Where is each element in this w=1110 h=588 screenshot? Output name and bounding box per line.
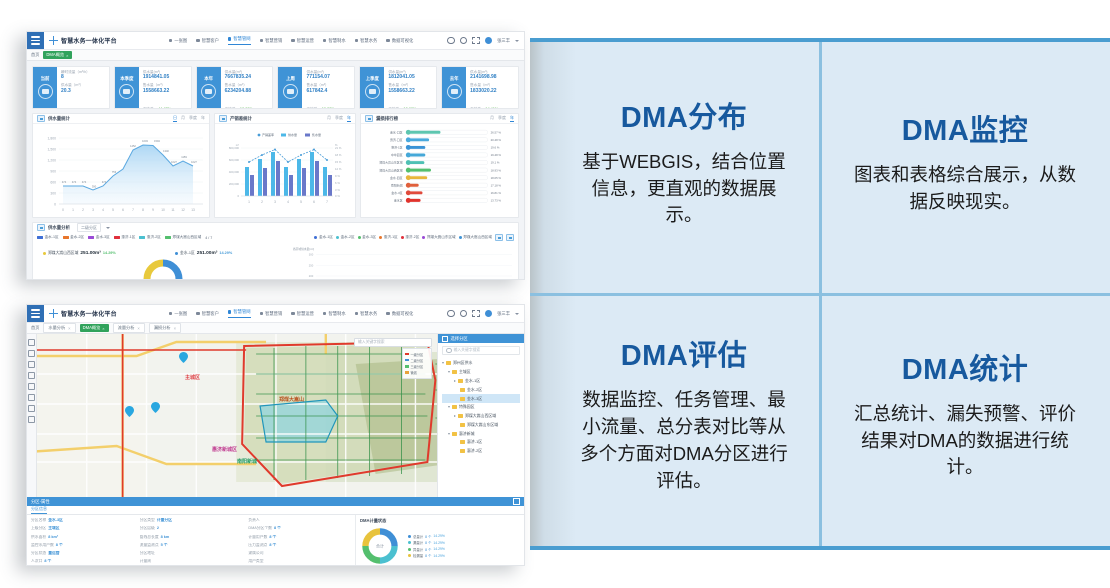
kpi-card: 本季度 供水量(m³)1914841.05 售水量（m³）1558663.22 … xyxy=(114,66,192,109)
donut-chart xyxy=(141,257,185,280)
field-key: 计量周 xyxy=(140,559,151,566)
tree-node[interactable]: 主城区 xyxy=(442,368,520,377)
switch-quarter[interactable]: 季度 xyxy=(498,115,506,122)
legend-item[interactable]: 郑煤大嵩山东区域 xyxy=(422,234,455,241)
svg-text:200,000: 200,000 xyxy=(229,182,240,186)
tree-node[interactable]: 惠济-2区 xyxy=(442,447,520,456)
switch-month[interactable]: 月 xyxy=(490,115,494,122)
analysis-legend: 金水-1区 金水-2区 金水-3区 惠济-1区 惠济-2区 郑煤大嵩山西区域 4… xyxy=(33,232,518,243)
tab-zone-info[interactable]: 分区信息 xyxy=(31,506,47,515)
nav-icon xyxy=(323,39,327,43)
svg-text:2: 2 xyxy=(261,200,263,204)
field: 分区状态量运营 xyxy=(31,551,134,558)
tree-node[interactable]: 郑煤大嵩山西区域 xyxy=(442,412,520,421)
kpi-row: 当前 瞬时流量（m³/h）8 供水量（m³）20.3 本季度 供水量(m³)19… xyxy=(27,61,524,109)
folder-icon xyxy=(446,361,451,365)
chevron-down-icon[interactable] xyxy=(442,362,444,364)
kpi-metrics: 供水量(m³)771154.07 售水量（m³）617842.4 产销差 19.… xyxy=(302,67,354,108)
tab-home[interactable]: 首页 xyxy=(31,325,39,331)
svg-text:19.6 %: 19.6 % xyxy=(491,146,500,150)
screenshot-dma-map: 智慧水务一体化平台 一张图 智慧客户 智慧管网 智慧营销 智慧运营 智慧制水 智… xyxy=(26,304,525,566)
legend-label: 金水-2区 xyxy=(341,235,355,240)
svg-text:金水-四区: 金水-四区 xyxy=(390,175,403,180)
panel-header: 漏损排行榜 月 季度 年 xyxy=(361,114,518,124)
legend-label: 管线 xyxy=(411,370,417,375)
nav-label: 智慧客户 xyxy=(202,311,219,317)
svg-text:8: 8 xyxy=(142,208,144,212)
kpi-value: 1558663.22 xyxy=(388,88,433,95)
legend-item[interactable]: 金水-3区 xyxy=(88,235,110,240)
search-icon[interactable] xyxy=(28,350,35,357)
tree-node-label: 郑州区供水 xyxy=(453,360,472,366)
svg-text:金水-口区: 金水-口区 xyxy=(390,129,403,134)
kpi-value: 2141698.98 xyxy=(470,74,515,81)
switch-day[interactable]: 日 xyxy=(173,115,177,122)
nav-label: 智慧客户 xyxy=(202,38,219,44)
meter-icon xyxy=(447,84,462,99)
app-title: 智慧水务一体化平台 xyxy=(61,309,117,318)
fullscreen-icon[interactable] xyxy=(472,310,480,318)
field: 分区名称金水-3区 xyxy=(31,518,134,525)
legend-pager[interactable]: 4 / 7 xyxy=(205,236,212,240)
switch-quarter[interactable]: 季度 xyxy=(335,115,343,122)
nav-label: 智慧水务 xyxy=(360,311,377,317)
bell-icon[interactable] xyxy=(460,310,468,318)
svg-text:1: 1 xyxy=(72,208,74,212)
nav-icon xyxy=(196,39,200,43)
switch-year[interactable]: 年 xyxy=(201,115,205,122)
svg-text:1603: 1603 xyxy=(142,139,148,143)
trend-chart-area: 各区域供水量(m³) 300250 200100 xyxy=(291,245,514,280)
nav-icon xyxy=(169,39,173,43)
tree-node-label: 金水-2区 xyxy=(467,387,482,393)
svg-text:供水量: 供水量 xyxy=(288,132,297,137)
svg-text:0 %: 0 % xyxy=(335,194,340,198)
map-zone-label: 惠济新城区 xyxy=(212,446,237,453)
polygon-icon[interactable] xyxy=(28,383,35,390)
feature-desc: 数据监控、任务管理、最小流量、总分表对比等从多个方面对DMA分区进行评估。 xyxy=(574,387,794,494)
chevron-down-icon[interactable] xyxy=(106,227,110,229)
feature-cell-dma-monitoring: DMA监控 图表和表格综合展示，从数据反映现实。 xyxy=(820,42,1110,294)
svg-text:474: 474 xyxy=(82,180,87,184)
field-key: 流量监测点 xyxy=(140,543,159,550)
field: 分区层级2 xyxy=(140,526,243,533)
kpi-metrics: 供水量(m³)7667835.24 售水量（m³）6234204.88 产销差 … xyxy=(221,67,273,108)
main-nav: 一张图 智慧客户 智慧管网 智慧营销 智慧运营 智慧制水 智慧水务 数据可视化 xyxy=(169,309,414,318)
svg-text:1027: 1027 xyxy=(171,160,177,164)
svg-text:各区域供水量(m³): 各区域供水量(m³) xyxy=(293,247,314,251)
kpi-card: 当前 瞬时流量（m³/h）8 供水量（m³）20.3 xyxy=(32,66,110,109)
chart-title: DMA计量状态 xyxy=(360,518,520,524)
chevron-down-icon[interactable] xyxy=(515,40,519,42)
panel-title: 供水量统计 xyxy=(48,116,70,122)
tab-active[interactable]: DMA概览× xyxy=(80,324,109,333)
map-zone-label: 主城区 xyxy=(185,374,200,381)
folder-icon xyxy=(460,397,465,401)
svg-text:5: 5 xyxy=(300,200,302,204)
chevron-right-icon[interactable] xyxy=(454,380,456,382)
tab-item[interactable]: 漏损分析× xyxy=(149,323,181,334)
map-canvas[interactable]: 主城区 惠济新城区 南阳新城 郑煤大嵩山 输入关键字搜索 一级分区 二级分区 三… xyxy=(27,334,524,497)
svg-text:5: 5 xyxy=(112,208,114,212)
close-icon[interactable]: × xyxy=(66,53,68,58)
gear-icon[interactable] xyxy=(447,37,455,45)
checkbox-icon[interactable] xyxy=(442,336,448,342)
svg-text:金水区: 金水区 xyxy=(394,198,403,203)
field-key: 压力监测点 xyxy=(248,543,267,550)
bar-chart-icon[interactable] xyxy=(495,234,503,241)
screenshot-dashboard: 智慧水务一体化平台 一张图 智慧客户 智慧管网 智慧营销 智慧运营 智慧制水 智… xyxy=(26,31,525,280)
nav-item-3[interactable]: 智慧营销 xyxy=(260,38,283,44)
legend-item[interactable]: 金水-1区 xyxy=(37,235,59,240)
nav-item-7[interactable]: 数据可视化 xyxy=(386,38,413,44)
kpi-period-label: 上季度 xyxy=(366,76,379,82)
legend-item[interactable]: 金水-1区 xyxy=(314,234,333,241)
field-key: 计量用户数 xyxy=(248,535,267,542)
nav-label: 一张图 xyxy=(174,38,187,44)
svg-text:250: 250 xyxy=(309,263,314,267)
marker-icon[interactable] xyxy=(28,372,35,379)
chart-icon xyxy=(219,115,227,122)
nav-item-0[interactable]: 一张图 xyxy=(169,311,187,317)
nav-item-6[interactable]: 智慧水务 xyxy=(355,38,378,44)
panel-header: 供水量统计 日 月 季度 年 xyxy=(33,114,209,124)
logo-icon xyxy=(49,309,58,318)
tree-node[interactable]: 郑煤大嵩山东区域 xyxy=(442,420,520,429)
legend-label: 三级分区 xyxy=(411,364,424,369)
tree-node[interactable]: 金水-2区 xyxy=(442,385,520,394)
field: 管线总长度8 km xyxy=(140,535,243,542)
locate-icon[interactable] xyxy=(28,405,35,412)
svg-text:6: 6 xyxy=(122,208,124,212)
kpi-key: 产销差 xyxy=(470,107,481,109)
app-header: 智慧水务一体化平台 一张图 智慧客户 智慧管网 智慧营销 智慧运营 智慧制水 智… xyxy=(27,305,524,323)
field-key: 分区名称 xyxy=(31,518,46,525)
tab-label: 水量分析 xyxy=(48,325,65,331)
legend-count: 8 个 xyxy=(425,547,431,552)
avatar[interactable] xyxy=(485,37,493,45)
close-icon: × xyxy=(137,326,139,331)
field: 压力监测点8 个 xyxy=(248,543,351,550)
map-marker-icon[interactable] xyxy=(125,406,134,417)
field-value: 2 xyxy=(157,526,159,533)
field-key: 隶属公司 xyxy=(248,551,263,558)
pie-label-value: 251.00m³ xyxy=(80,251,101,256)
slide-root: 智慧水务一体化平台 一张图 智慧客户 智慧管网 智慧营销 智慧运营 智慧制水 智… xyxy=(0,0,1110,588)
field-key: 供水面积 xyxy=(31,535,46,542)
tree-node-label: 金水-1区 xyxy=(465,378,480,384)
nav-label: 智慧水务 xyxy=(360,38,377,44)
switch-month[interactable]: 月 xyxy=(327,115,331,122)
tab-active[interactable]: DMA概览 × xyxy=(43,51,72,60)
field: 计量周 xyxy=(140,559,243,566)
chevron-down-icon[interactable] xyxy=(448,371,450,373)
close-icon: × xyxy=(174,326,176,331)
feature-panel: DMA分布 基于WEBGIS，结合位置信息，更直观的数据展示。 DMA监控 图表… xyxy=(530,38,1110,550)
svg-text:4: 4 xyxy=(287,200,289,204)
kpi-value: 13.98% xyxy=(404,107,417,109)
field-value: 8 个 xyxy=(269,535,276,542)
nav-label: 数据可视化 xyxy=(392,38,413,44)
bell-icon[interactable] xyxy=(460,37,468,45)
svg-text:1,800: 1,800 xyxy=(48,137,57,141)
svg-text:18.93 %: 18.93 % xyxy=(491,168,502,172)
svg-text:1159: 1159 xyxy=(181,155,187,159)
svg-text:200: 200 xyxy=(309,274,314,278)
main-nav: 一张图 智慧客户 智慧管网 智慧营销 智慧运营 智慧制水 智慧水务 数据可视化 xyxy=(169,36,414,45)
avatar[interactable] xyxy=(485,310,493,318)
switch-year[interactable]: 年 xyxy=(510,115,514,122)
field-value: 8 个 xyxy=(269,543,276,550)
field-key: 分区状态 xyxy=(31,551,46,558)
field-value: 主城区 xyxy=(48,526,59,533)
fullscreen-icon[interactable] xyxy=(472,37,480,45)
tree-node[interactable]: 特殊园区 xyxy=(442,403,520,412)
nav-item-1[interactable]: 智慧客户 xyxy=(196,38,219,44)
nav-item-0[interactable]: 一张图 xyxy=(169,38,187,44)
svg-text:1594: 1594 xyxy=(154,139,160,143)
nav-item-5[interactable]: 智慧制水 xyxy=(323,311,346,317)
svg-text:9 %: 9 % xyxy=(335,174,340,178)
nav-item-2[interactable]: 智慧管网 xyxy=(228,309,251,318)
nav-item-1[interactable]: 智慧客户 xyxy=(196,311,219,317)
legend-label: 漏量计 xyxy=(413,540,423,545)
app-title: 智慧水务一体化平台 xyxy=(61,36,117,45)
meter-icon xyxy=(283,84,298,99)
kpi-value: 1812041.05 xyxy=(388,74,433,81)
svg-text:1,200: 1,200 xyxy=(48,159,57,163)
svg-text:474: 474 xyxy=(62,180,67,184)
table-icon[interactable] xyxy=(506,234,514,241)
field-value: 8 km² xyxy=(48,535,58,542)
field-key: 分区类型 xyxy=(140,518,155,525)
tab-home[interactable]: 首页 xyxy=(31,52,39,58)
kpi-value: 1833020.22 xyxy=(470,88,515,95)
kpi-period-label: 当前 xyxy=(41,76,50,82)
legend-pct: 14.29% xyxy=(433,541,445,545)
folder-icon xyxy=(458,379,463,383)
tree-node[interactable]: 惠济新城 xyxy=(442,429,520,438)
svg-text:9: 9 xyxy=(152,208,154,212)
nav-label: 智慧制水 xyxy=(328,38,345,44)
chevron-down-icon[interactable] xyxy=(448,406,450,408)
map-marker-icon[interactable] xyxy=(151,402,160,413)
analysis-body: 郑煤大嵩山西区域 251.00m³ 14.29% 金水-1区 251.00m³ … xyxy=(33,243,518,280)
gear-icon[interactable] xyxy=(447,310,455,318)
field-value: 8 个 xyxy=(56,543,63,550)
tree-node-label: 郑煤大嵩山东区域 xyxy=(467,422,498,428)
feature-title: DMA监控 xyxy=(902,116,1029,148)
chevron-down-icon[interactable] xyxy=(448,433,450,435)
tab-item[interactable]: 流量分析× xyxy=(113,323,145,334)
close-icon: × xyxy=(68,326,70,331)
kpi-key: 产销差 xyxy=(388,107,399,109)
dma-status-chart-panel: DMA计量状态 合计 总量计8 个14.29% 漏量计8 个14.29% 异量计… xyxy=(356,515,524,566)
print-icon[interactable] xyxy=(28,394,35,401)
meter-icon xyxy=(201,84,216,99)
field: 负责人 xyxy=(248,518,351,525)
chart-icon xyxy=(37,115,45,122)
switch-year[interactable]: 年 xyxy=(347,115,351,122)
svg-text:400,000: 400,000 xyxy=(229,170,240,174)
zone-tree-search[interactable]: 输入关键字搜索 xyxy=(442,346,520,355)
field-key: 分区层级 xyxy=(140,526,155,533)
legend-item[interactable]: 金水-2区 xyxy=(63,235,85,240)
kpi-period-label: 本年 xyxy=(204,76,213,82)
nav-icon xyxy=(260,39,264,43)
nav-item-3[interactable]: 智慧营销 xyxy=(260,311,283,317)
tree-node-label: 主城区 xyxy=(459,369,471,375)
panel-title: 漏损排行榜 xyxy=(376,116,398,122)
svg-text:19.48 %: 19.48 % xyxy=(491,153,502,157)
legend-label: 惠济-2区 xyxy=(405,235,419,240)
kpi-period: 本季度 xyxy=(115,67,139,108)
panel-title: 产销差统计 xyxy=(230,116,252,122)
svg-text:800,000: 800,000 xyxy=(229,146,240,150)
zone-tree: 郑州区供水 主城区 金水-1区 金水-2区 金水-3区 特殊园区 郑煤大嵩山西区… xyxy=(438,358,524,457)
legend-count: 8 个 xyxy=(425,540,431,545)
kpi-card: 本年 供水量(m³)7667835.24 售水量（m³）6234204.88 产… xyxy=(196,66,274,109)
pie-label-pct: 14.29% xyxy=(219,251,232,255)
svg-text:13: 13 xyxy=(191,208,195,212)
legend-item[interactable]: 郑煤大嵩山西区域 xyxy=(165,235,201,240)
svg-text:10: 10 xyxy=(161,208,165,212)
horizontal-bar-chart: 金水-口区惠济-口区 惠济-1区中牟园区 郑煤大嵩山东区域郑煤大嵩山西区域 金水… xyxy=(361,124,518,212)
feature-cell-dma-statistics: DMA统计 汇总统计、漏失预警、评价结果对DMA的数据进行统计。 xyxy=(820,294,1110,546)
menu-icon[interactable] xyxy=(27,32,44,49)
expand-icon[interactable] xyxy=(513,498,520,505)
map-search-input[interactable]: 输入关键字搜索 xyxy=(354,338,432,347)
folder-icon xyxy=(452,405,457,409)
pie-label-value: 251.00m³ xyxy=(197,251,218,256)
nav-label: 智慧运营 xyxy=(297,38,314,44)
nav-label: 智慧营销 xyxy=(265,38,282,44)
feature-desc: 基于WEBGIS，结合位置信息，更直观的数据展示。 xyxy=(574,149,794,229)
legend-count: 8 个 xyxy=(425,553,431,558)
legend-item: 管线 xyxy=(405,370,429,376)
legend-item[interactable]: 金水-3区 xyxy=(358,234,377,241)
svg-text:4: 4 xyxy=(102,208,104,212)
folder-icon xyxy=(458,414,463,418)
kpi-card: 上周 供水量(m³)771154.07 售水量（m³）617842.4 产销差 … xyxy=(277,66,355,109)
field-value: 8 个 xyxy=(274,526,281,533)
measure-icon[interactable] xyxy=(28,361,35,368)
map-marker-icon[interactable] xyxy=(179,352,188,363)
pie-with-labels: 郑煤大嵩山西区域 251.00m³ 14.29% 金水-1区 251.00m³ … xyxy=(37,245,287,280)
kpi-period: 去年 xyxy=(442,67,466,108)
line-chart: 各区域供水量(m³) 300250 200100 xyxy=(291,245,514,280)
period-switch: 月 季度 年 xyxy=(490,115,514,122)
kpi-value: 19.88% xyxy=(322,107,335,109)
legend-label: 金水-3区 xyxy=(362,235,376,240)
svg-text:1340: 1340 xyxy=(163,149,169,153)
legend-item[interactable]: 惠济-1区 xyxy=(114,235,136,240)
legend-count: 8 个 xyxy=(425,534,431,539)
switch-quarter[interactable]: 季度 xyxy=(189,115,197,122)
nav-label: 智慧制水 xyxy=(328,311,345,317)
legend-item[interactable]: 郑煤大嵩山西区域 xyxy=(459,234,492,241)
svg-text:郑煤大嵩山西区域: 郑煤大嵩山西区域 xyxy=(379,167,402,172)
nav-item-4[interactable]: 智慧运营 xyxy=(291,311,314,317)
tree-node[interactable]: 惠济-1区 xyxy=(442,438,520,447)
kpi-key: 产销差 xyxy=(306,107,317,109)
detail-tabbar: 分区信息 xyxy=(27,506,524,515)
field: 供水面积8 km² xyxy=(31,535,134,542)
settings-icon[interactable] xyxy=(28,416,35,423)
pie-label: 金水-1区 251.00m³ 14.29% xyxy=(175,251,232,256)
legend-label: 郑煤大嵩山西区域 xyxy=(463,235,492,240)
nav-item-6[interactable]: 智慧水务 xyxy=(355,311,378,317)
legend-item[interactable]: 金水-2区 xyxy=(336,234,355,241)
svg-text:19.1 %: 19.1 % xyxy=(491,161,500,165)
svg-text:390: 390 xyxy=(92,185,97,189)
kpi-card: 上季度 供水量(m³)1812041.05 售水量（m³）1558663.22 … xyxy=(359,66,437,109)
detail-body: 分区名称金水-3区 分区类型计量分区 负责人 上级分区主城区 分区层级2 DMA… xyxy=(27,515,524,566)
nav-item-5[interactable]: 智慧制水 xyxy=(323,38,346,44)
tab-item[interactable]: 水量分析× xyxy=(43,323,75,334)
legend-label: 金水-1区 xyxy=(45,235,59,240)
feature-cell-dma-distribution: DMA分布 基于WEBGIS，结合位置信息，更直观的数据展示。 xyxy=(530,42,820,294)
svg-text:21 %: 21 % xyxy=(335,146,342,150)
panel-supply-analysis: 供水量分析 二级分区 金水-1区 金水-2区 金水-3区 惠济-1区 惠济-2区… xyxy=(32,222,519,280)
chevron-right-icon[interactable] xyxy=(454,415,456,417)
menu-icon[interactable] xyxy=(27,305,44,322)
tree-node[interactable]: 金水-1区 xyxy=(442,377,520,386)
legend-pct: 14.29% xyxy=(433,534,445,538)
legend-item: 异量计8 个14.29% xyxy=(408,547,445,552)
chevron-down-icon[interactable] xyxy=(515,313,519,315)
nav-item-7[interactable]: 数据可视化 xyxy=(386,311,413,317)
nav-label: 智慧管网 xyxy=(233,309,250,315)
field-key: 监控水用户数 xyxy=(31,543,54,550)
field-key: DMA分区个数 xyxy=(248,526,272,533)
field: 上级分区主城区 xyxy=(31,526,134,533)
bar-line-chart: 产销差率 供水量 售水量 m³ 800,000600,000 400,00020… xyxy=(215,124,355,217)
area-chart: 1,8001,500 1,200900 600300 0 474474474 3… xyxy=(33,124,209,217)
tree-node-selected[interactable]: 金水-3区 xyxy=(442,394,520,403)
nav-label: 智慧营销 xyxy=(265,311,282,317)
kpi-value: 14.41% xyxy=(485,107,498,109)
legend-item[interactable]: 惠济-1区 xyxy=(379,234,398,241)
nav-item-4[interactable]: 智慧运营 xyxy=(291,38,314,44)
layers-icon[interactable] xyxy=(28,339,35,346)
svg-text:金水-3区: 金水-3区 xyxy=(391,190,402,195)
svg-text:售水量: 售水量 xyxy=(312,132,321,137)
legend-item[interactable]: 惠济-2区 xyxy=(401,234,420,241)
nav-item-2[interactable]: 智慧管网 xyxy=(228,36,251,45)
chart-panel-row: 供水量统计 日 月 季度 年 xyxy=(27,109,524,218)
field: 分区地址 xyxy=(140,551,243,558)
legend-item: 漏量计8 个14.29% xyxy=(408,540,445,545)
zone-tree-panel: 选择分区 输入关键字搜索 郑州区供水 主城区 金水-1区 金水-2区 金水-3区… xyxy=(437,334,524,497)
svg-text:郑煤大嵩山东区域: 郑煤大嵩山东区域 xyxy=(379,160,402,165)
svg-text:3 %: 3 % xyxy=(335,188,340,192)
svg-text:300: 300 xyxy=(309,253,314,257)
svg-text:合计: 合计 xyxy=(376,542,384,548)
panel-loss-rate: 产销差统计 月 季度 年 产销差率 供水量 售水量 xyxy=(214,113,356,218)
field-value: 计量分区 xyxy=(157,518,172,525)
legend-item[interactable]: 惠济-2区 xyxy=(139,235,161,240)
switch-month[interactable]: 月 xyxy=(181,115,185,122)
chart-body: 合计 总量计8 个14.29% 漏量计8 个14.29% 异量计8 个14.29… xyxy=(360,526,520,566)
zone-level-select[interactable]: 二级分区 xyxy=(77,223,101,233)
tree-node[interactable]: 郑州区供水 xyxy=(442,359,520,368)
chart-legend: 总量计8 个14.29% 漏量计8 个14.29% 异量计8 个14.29% 检… xyxy=(408,534,445,559)
pie-label-pct: 14.29% xyxy=(103,251,116,255)
nav-icon xyxy=(228,37,232,41)
tab-strip: 首页 DMA概览 × xyxy=(27,50,524,61)
svg-text:中牟园区: 中牟园区 xyxy=(391,152,403,157)
